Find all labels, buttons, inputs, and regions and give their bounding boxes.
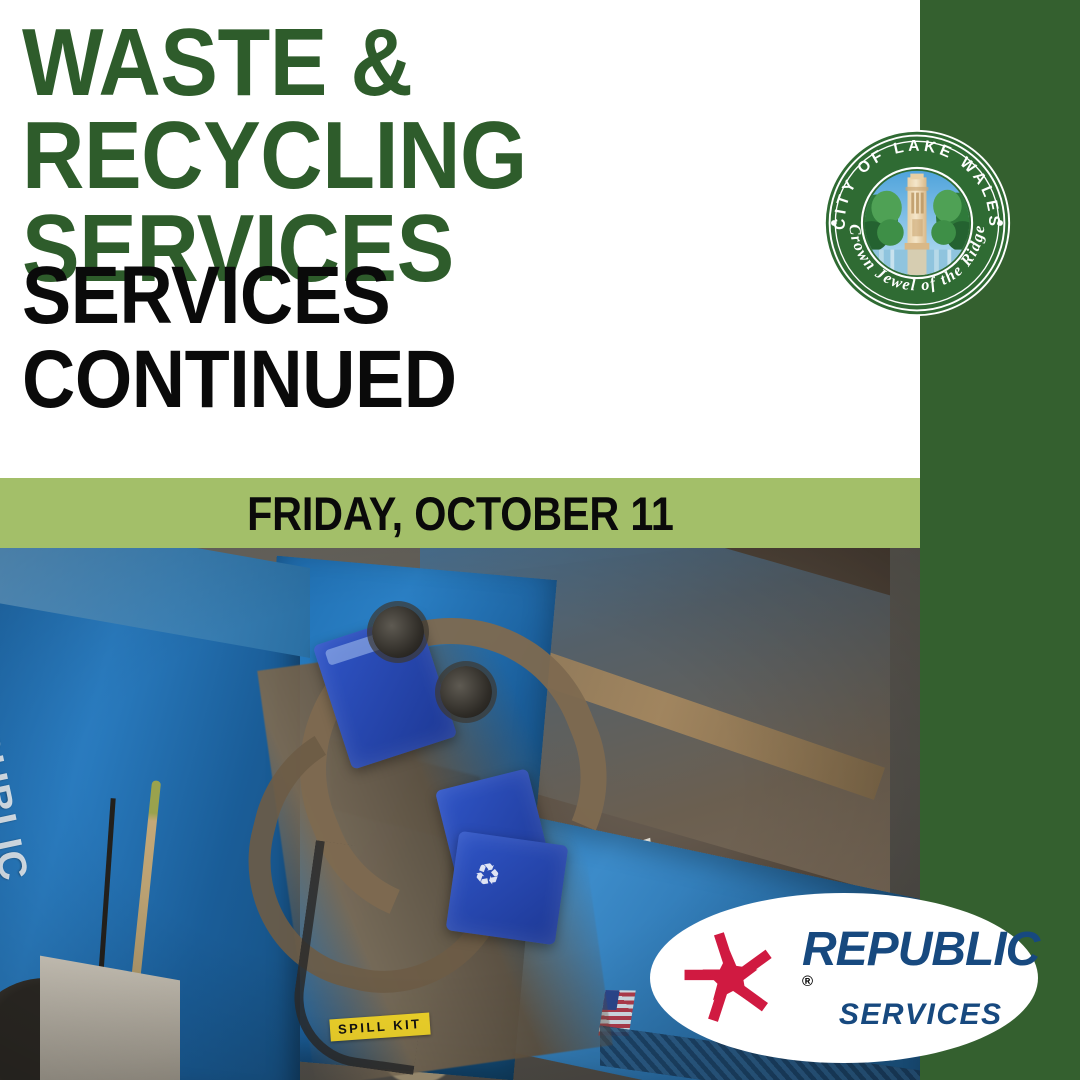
date-banner: FRIDAY, OCTOBER 11 bbox=[0, 478, 920, 548]
cart-wheel-upper-left bbox=[372, 606, 424, 658]
cart-wheel-upper-right bbox=[440, 666, 492, 718]
recycling-bin-open bbox=[446, 831, 569, 945]
recycling-star-icon bbox=[668, 916, 792, 1040]
city-of-lake-wales-seal: CITY OF LAKE WALES Crown Jewel of the Ri… bbox=[822, 128, 1012, 318]
republic-wordmark: REPUBLIC bbox=[802, 926, 1039, 974]
page-subtitle: SERVICES CONTINUED bbox=[22, 254, 814, 421]
republic-services-logo: REPUBLIC® SERVICES bbox=[650, 893, 1038, 1063]
republic-services-wordmark: REPUBLIC® SERVICES bbox=[802, 926, 1039, 1030]
poster-canvas: WASTE & RECYCLING SERVICES SERVICES CONT… bbox=[0, 0, 1080, 1080]
recycle-symbol-icon: ♻ bbox=[471, 856, 504, 895]
services-wordmark: SERVICES bbox=[802, 1000, 1039, 1030]
date-text: FRIDAY, OCTOBER 11 bbox=[247, 490, 674, 537]
